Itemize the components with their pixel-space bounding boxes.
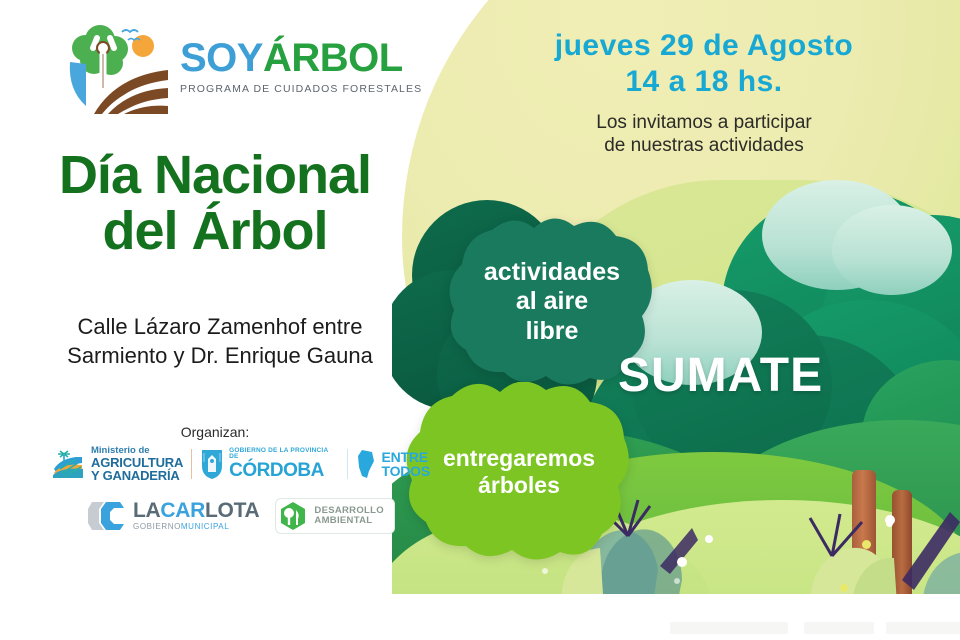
la-carlota-sub-gobierno: GOBIERNO bbox=[133, 522, 181, 531]
la-carlota-sub-municipal: MUNICIPAL bbox=[181, 522, 229, 531]
la-carlota-la: LA bbox=[133, 499, 160, 522]
bubble-trees-line-1: entregaremos bbox=[443, 445, 595, 472]
speck-f bbox=[886, 520, 893, 527]
brand-logo: SOYÁRBOL PROGRAMA DE CUIDADOS FORESTALES bbox=[64, 18, 422, 114]
brand-name-part2: ÁRBOL bbox=[263, 36, 403, 80]
entre-todos-line-2: TODOS bbox=[381, 464, 430, 478]
la-carlota-car: CAR bbox=[160, 499, 205, 522]
faint-strip-b bbox=[804, 622, 874, 634]
sponsor-divider-1 bbox=[191, 449, 192, 479]
tree-person-sun-field-icon bbox=[64, 18, 172, 114]
la-carlota-subtitle: GOBIERNOMUNICIPAL bbox=[133, 523, 259, 531]
event-time: 14 a 18 hs. bbox=[508, 66, 900, 98]
la-carlota-text: LACARLOTA GOBIERNOMUNICIPAL bbox=[133, 500, 259, 531]
la-carlota-c-icon bbox=[86, 498, 126, 534]
event-date: jueves 29 de Agosto bbox=[508, 30, 900, 62]
speck-d bbox=[705, 535, 713, 543]
venue-address: Calle Lázaro Zamenhof entre Sarmiento y … bbox=[10, 312, 430, 370]
title-line-1: Día Nacional bbox=[59, 145, 371, 205]
sponsor-la-carlota: LACARLOTA GOBIERNOMUNICIPAL bbox=[86, 498, 259, 534]
sponsor-entre-todos: ENTRE TODOS bbox=[356, 449, 430, 479]
tree-highlight-back-b bbox=[832, 205, 952, 295]
page-title: Día Nacional del Árbol bbox=[0, 148, 430, 259]
cordoba-shield-icon bbox=[200, 448, 224, 480]
brand-tagline: PROGRAMA DE CUIDADOS FORESTALES bbox=[180, 83, 422, 95]
faint-strip-a bbox=[670, 622, 788, 634]
ministerio-text: Ministerio de AGRICULTURA Y GANADERÍA bbox=[91, 446, 183, 482]
sponsors-heading: Organizan: bbox=[0, 424, 430, 440]
bubble-trees-line-2: árboles bbox=[443, 472, 595, 499]
sponsors-row-1: Ministerio de AGRICULTURA Y GANADERÍA GO… bbox=[52, 446, 430, 482]
hexagon-tree-icon bbox=[278, 501, 308, 531]
entre-todos-line-1: ENTRE bbox=[381, 450, 430, 464]
invite-text: Los invitamos a participar de nuestras a… bbox=[508, 111, 900, 158]
sponsor-ministerio-agricultura: Ministerio de AGRICULTURA Y GANADERÍA bbox=[52, 446, 183, 482]
ministerio-line-2: AGRICULTURA bbox=[91, 456, 183, 469]
address-line-2: Sarmiento y Dr. Enrique Gauna bbox=[10, 341, 430, 370]
la-carlota-wordmark: LACARLOTA bbox=[133, 500, 259, 522]
bubble-outdoor-text: actividades al aire libre bbox=[484, 258, 620, 347]
speck-b bbox=[542, 568, 548, 574]
entre-todos-text: ENTRE TODOS bbox=[381, 450, 430, 478]
sumate-label: SUMATE bbox=[618, 348, 823, 403]
bubble-outdoor-line-2: al aire bbox=[484, 287, 620, 317]
cordoba-line-2: CÓRDOBA bbox=[229, 461, 339, 480]
brand-wordmark: SOYÁRBOL bbox=[180, 38, 422, 78]
bubble-trees-text: entregaremos árboles bbox=[443, 445, 595, 499]
sponsor-gobierno-cordoba: GOBIERNO DE LA PROVINCIA DE CÓRDOBA bbox=[200, 448, 339, 481]
title-line-2: del Árbol bbox=[0, 204, 430, 260]
sponsors-row-2: LACARLOTA GOBIERNOMUNICIPAL DESARROLLO A… bbox=[86, 498, 395, 534]
invite-line-1: Los invitamos a participar bbox=[508, 111, 900, 135]
desarrollo-line-2: AMBIENTAL bbox=[314, 516, 384, 526]
cordoba-text: GOBIERNO DE LA PROVINCIA DE CÓRDOBA bbox=[229, 448, 339, 481]
brand-name-part1: SOY bbox=[180, 36, 263, 80]
desarrollo-ambiental-text: DESARROLLO AMBIENTAL bbox=[314, 506, 384, 526]
address-line-1: Calle Lázaro Zamenhof entre bbox=[10, 312, 430, 341]
bubble-outdoor-line-3: libre bbox=[484, 317, 620, 347]
event-date-block: jueves 29 de Agosto 14 a 18 hs. Los invi… bbox=[508, 30, 900, 158]
field-windmill-icon bbox=[52, 449, 86, 479]
speck-c bbox=[674, 578, 680, 584]
sponsor-desarrollo-ambiental: DESARROLLO AMBIENTAL bbox=[275, 498, 395, 534]
left-content-column: SOYÁRBOL PROGRAMA DE CUIDADOS FORESTALES… bbox=[0, 0, 430, 640]
faint-strip-c bbox=[886, 622, 960, 634]
brand-logo-text: SOYÁRBOL PROGRAMA DE CUIDADOS FORESTALES bbox=[180, 38, 422, 95]
sponsor-divider-2 bbox=[347, 449, 348, 479]
bubble-outdoor-line-1: actividades bbox=[484, 258, 620, 288]
invite-line-2: de nuestras actividades bbox=[508, 134, 900, 158]
ministerio-line-3: Y GANADERÍA bbox=[91, 469, 183, 482]
speck-e bbox=[862, 540, 871, 549]
bubble-entregaremos-arboles: entregaremos árboles bbox=[404, 382, 634, 562]
la-carlota-lota: LOTA bbox=[205, 499, 259, 522]
cordoba-map-icon bbox=[356, 449, 376, 479]
poster-canvas: jueves 29 de Agosto 14 a 18 hs. Los invi… bbox=[0, 0, 960, 640]
